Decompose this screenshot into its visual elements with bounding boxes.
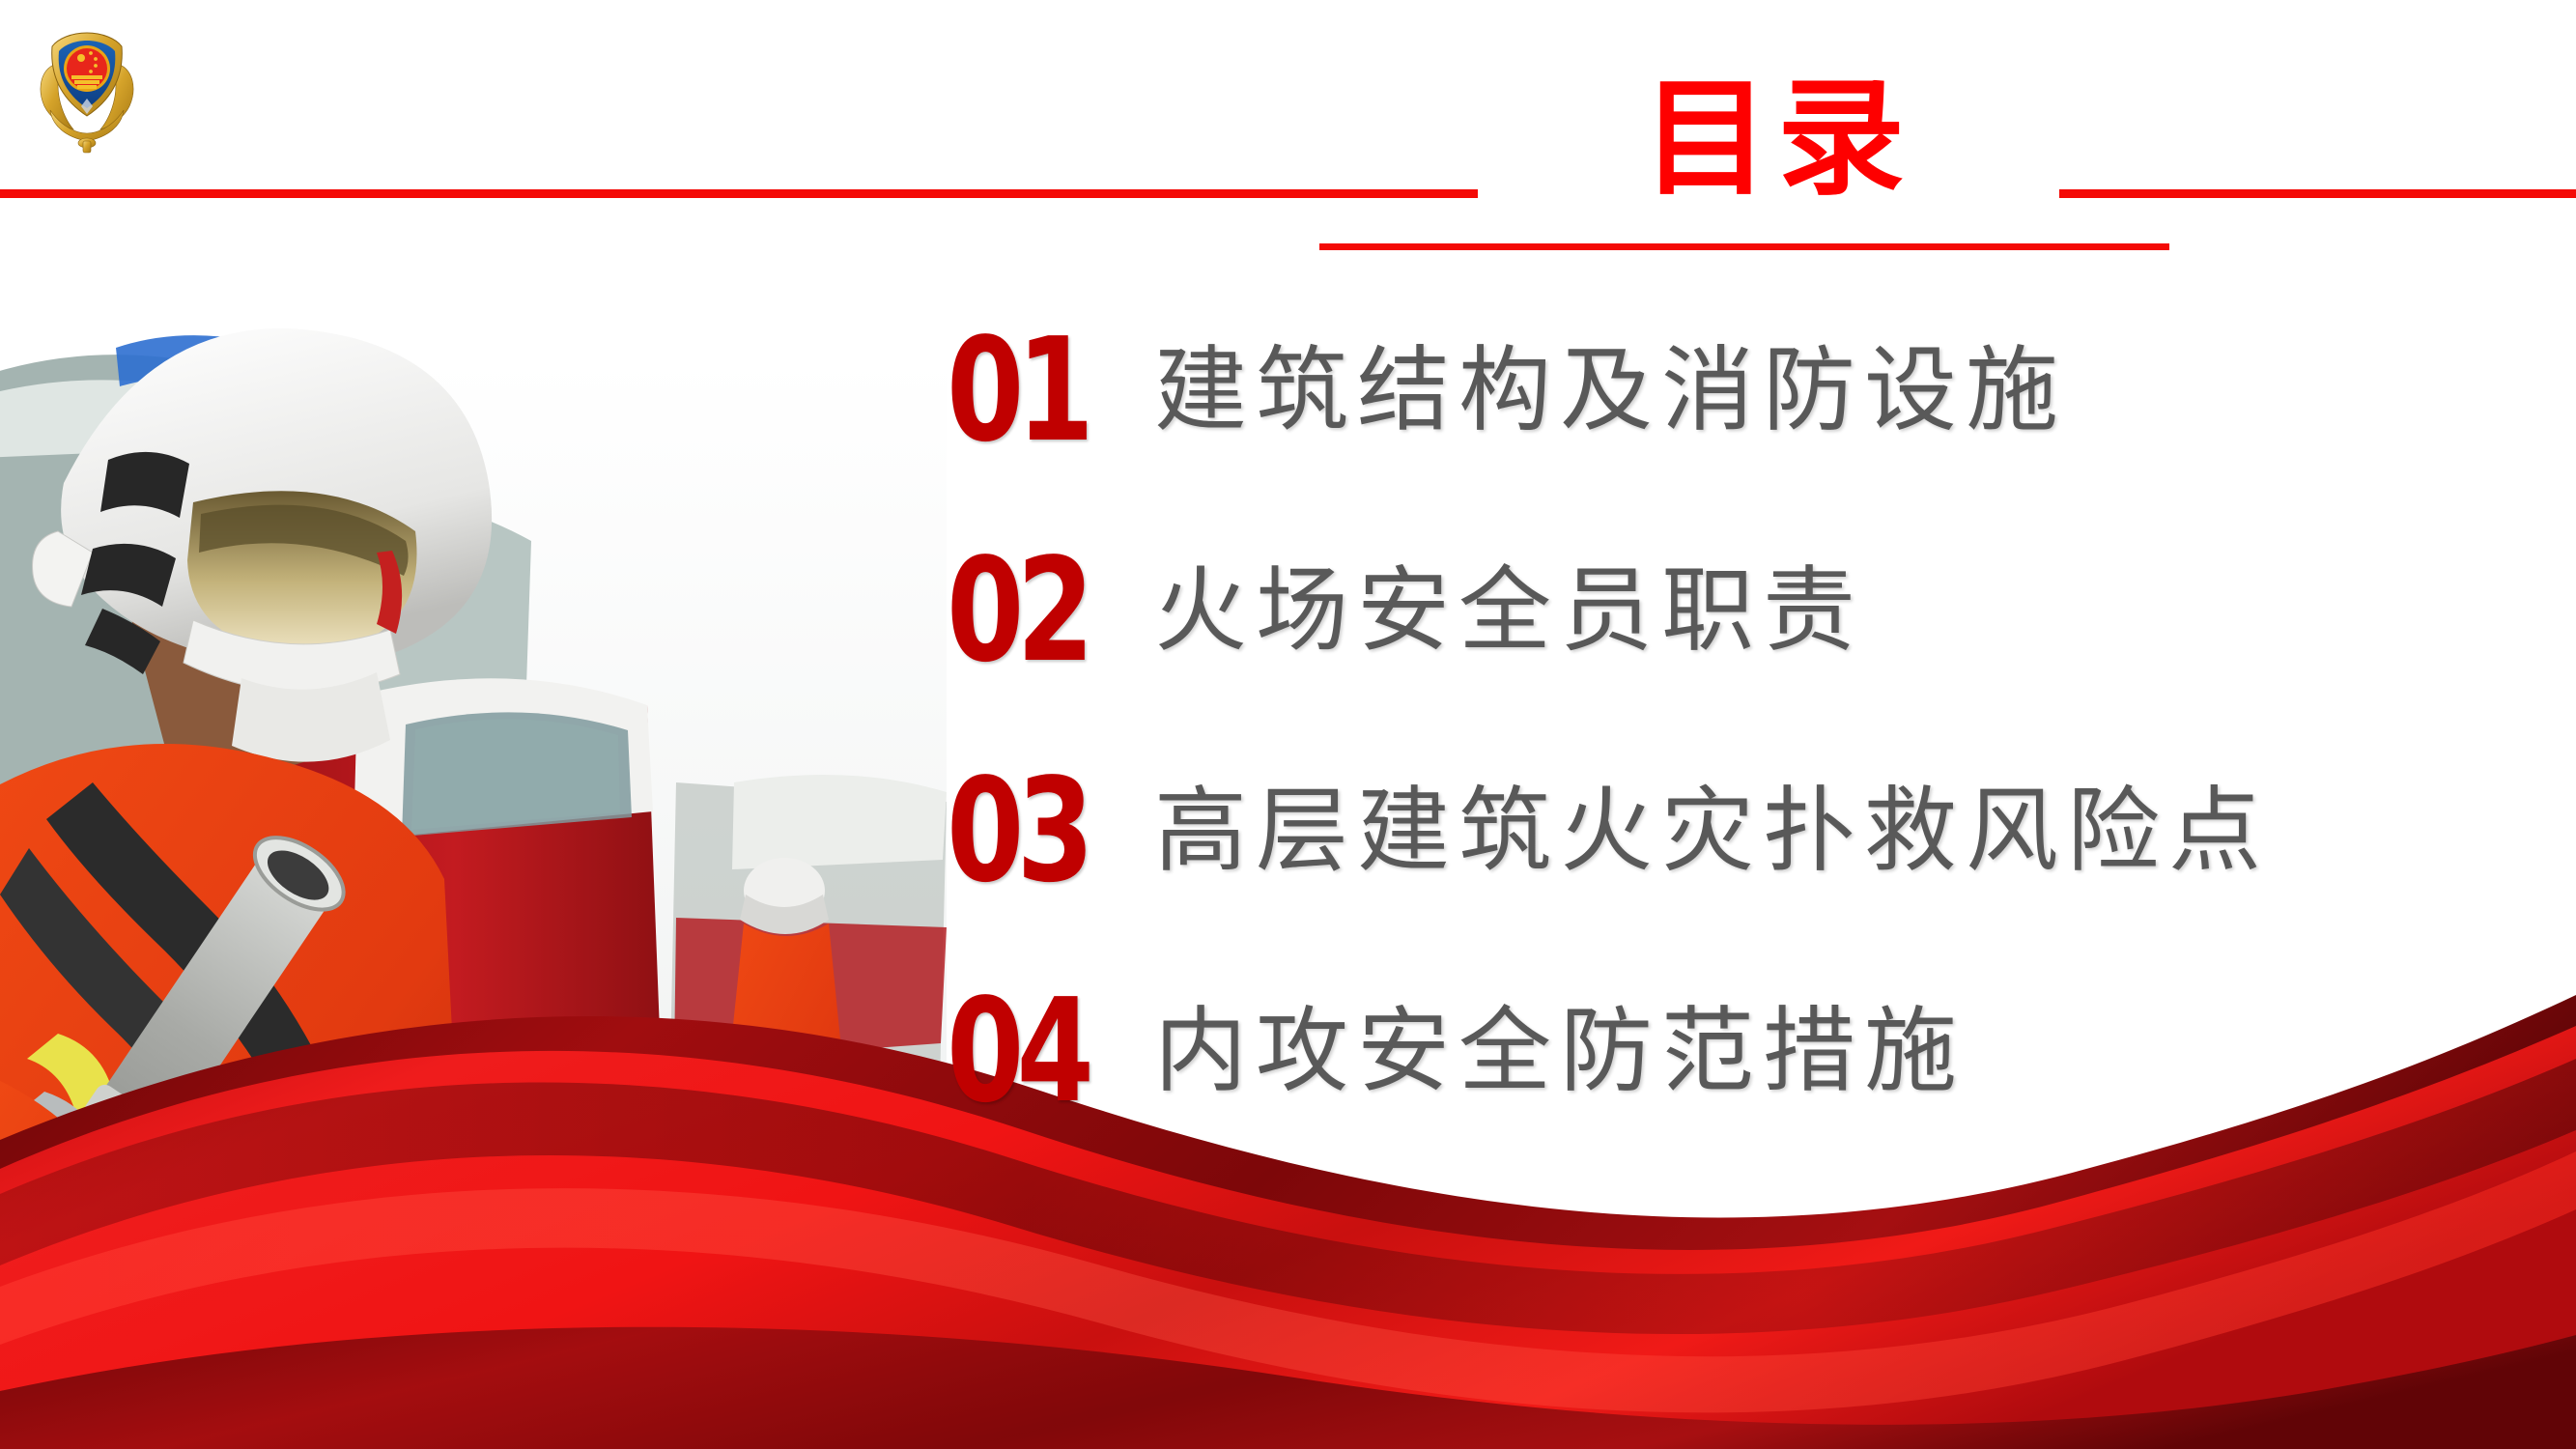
toc-item-2[interactable]: 02 火场安全员职责 — [947, 500, 2569, 721]
firefighter-photo: X520 — [0, 241, 947, 1449]
toc-item-3[interactable]: 03 高层建筑火灾扑救风险点 — [947, 721, 2569, 941]
toc-list: 01 建筑结构及消防设施 02 火场安全员职责 03 高层建筑火灾扑救风险点 0… — [947, 280, 2569, 1161]
fire-service-emblem-icon — [35, 17, 139, 155]
toc-item-label: 内攻安全防范措施 — [1154, 1005, 2569, 1097]
presentation-slide: 目录 — [0, 0, 2576, 1449]
title-underline-rule — [1319, 243, 2169, 250]
toc-item-1[interactable]: 01 建筑结构及消防设施 — [947, 280, 2569, 500]
toc-item-number: 01 — [947, 325, 1109, 456]
page-title: 目录 — [1526, 75, 2028, 203]
toc-item-label: 火场安全员职责 — [1154, 564, 2569, 657]
toc-item-number: 02 — [947, 545, 1109, 676]
toc-item-label: 高层建筑火灾扑救风险点 — [1154, 784, 2569, 877]
toc-item-number: 03 — [947, 765, 1109, 896]
header-rule-right — [2059, 189, 2576, 198]
toc-item-number: 04 — [947, 985, 1109, 1117]
toc-item-4[interactable]: 04 内攻安全防范措施 — [947, 941, 2569, 1161]
header-rule-left — [0, 189, 1478, 198]
toc-item-label: 建筑结构及消防设施 — [1154, 344, 2569, 437]
